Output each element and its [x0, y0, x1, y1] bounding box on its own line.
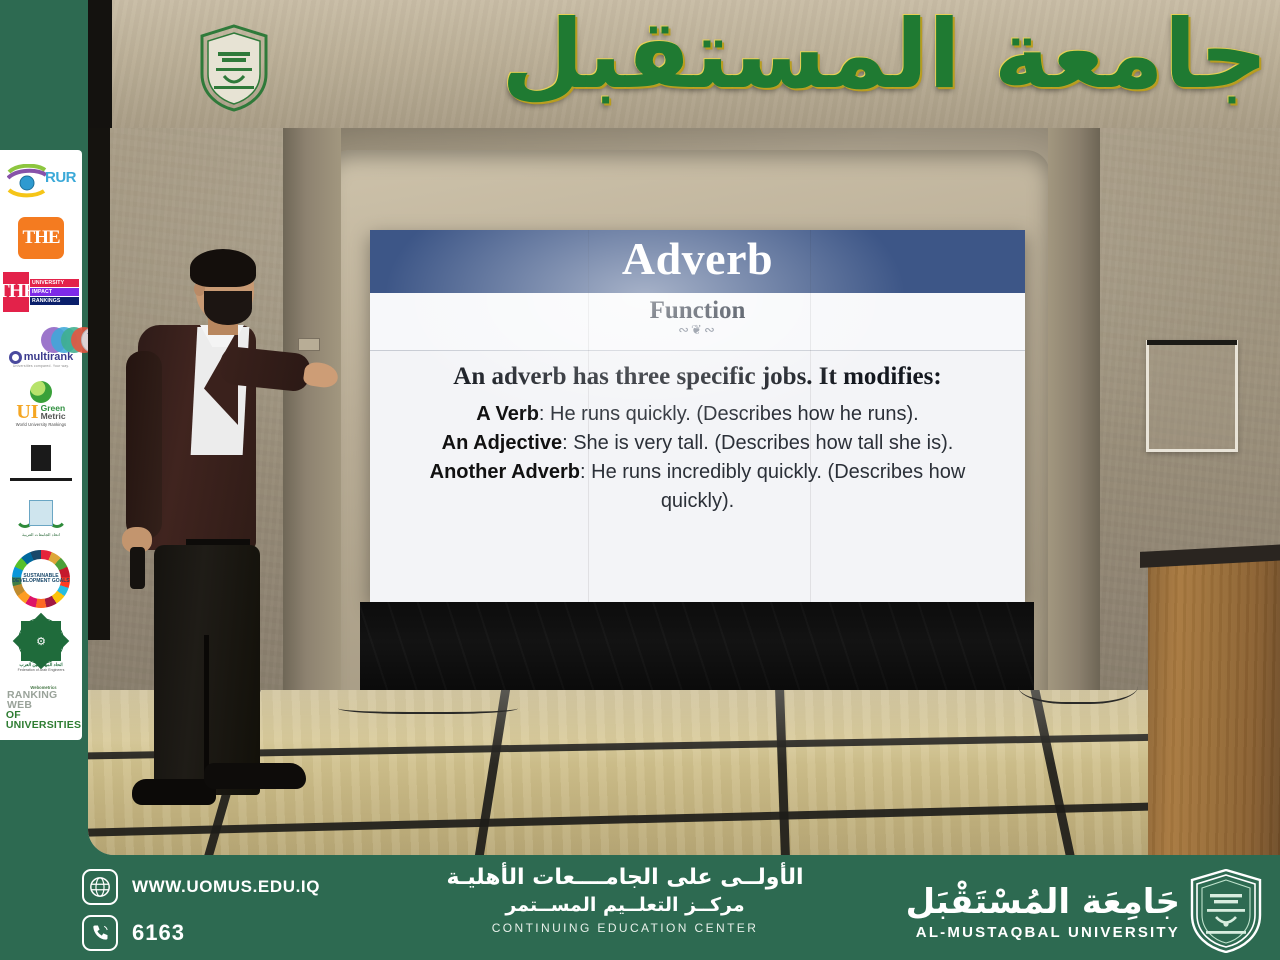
rur-swoosh-icon: [7, 164, 47, 198]
greenmetric-metric: Metric: [41, 412, 66, 421]
multirank-tagline: Universities compared. Your way.: [13, 364, 69, 368]
slide-title: Adverb: [370, 232, 1025, 285]
eight-point-star-icon: ⚙: [21, 621, 61, 661]
the-impact-mark: THE: [3, 272, 29, 312]
slide-bullet-2: An Adjective: She is very tall. (Describ…: [396, 429, 999, 458]
globe-www-icon: [82, 869, 118, 905]
slide-subtitle: Function: [370, 293, 1025, 325]
webometrics-line2: RANKING WEB: [7, 690, 80, 710]
website-url[interactable]: WWW.UOMUS.EDU.IQ: [132, 877, 320, 897]
presenter-gesturing-hand: [302, 361, 339, 389]
green-globe-icon: [30, 381, 52, 403]
rur-logo: RUR: [4, 158, 78, 204]
accreditation-rail: RUR THE THE UNIVERSITY IMPACT RANKINGS: [0, 0, 88, 855]
presenter-microphone: [130, 547, 145, 589]
the-rankings-logo: THE: [4, 217, 78, 259]
contact-block: WWW.UOMUS.EDU.IQ 6163: [82, 869, 412, 960]
phone-row[interactable]: 6163: [82, 915, 412, 951]
bullet-1-text: : He runs quickly. (Describes how he run…: [539, 403, 919, 425]
ui-greenmetric-logo: UI Green Metric World University Ranking…: [3, 381, 79, 427]
projector-screen: Adverb Function ∾❦∾ An adverb has three …: [370, 230, 1025, 602]
webometrics-logo: Webometrics RANKING WEB OF UNIVERSITIES: [2, 685, 80, 730]
bullet-2-text: : She is very tall. (Describes how tall …: [562, 432, 953, 454]
slide-body: An adverb has three specific jobs. It mo…: [370, 351, 1025, 602]
website-row[interactable]: WWW.UOMUS.EDU.IQ: [82, 869, 412, 905]
association-of-arab-universities-logo: اتحاد الجامعات العربية: [6, 494, 76, 537]
federation-of-arab-engineers-logo: ⚙ اتحاد المهندسين العرب Federation of Ar…: [6, 621, 76, 672]
center-tagline: الأولــى على الجامــــعات الأهليـة مركــ…: [390, 865, 860, 935]
sdg-core-text: SUSTAINABLE DEVELOPMENT GOALS: [12, 550, 70, 608]
tagline-english: CONTINUING EDUCATION CENTER: [390, 921, 860, 935]
slide-lead-text: An adverb has three specific jobs. It mo…: [396, 363, 999, 391]
bullet-3-label: Another Adverb: [430, 461, 580, 483]
floor-cable: [1018, 660, 1138, 704]
tagline-arabic-2: مركــز التعلــيم المســتمر: [390, 894, 860, 916]
multirank-wordmark: multirank: [24, 351, 74, 363]
wall-sign-shield-emblem-icon: [198, 24, 270, 112]
university-shield-emblem-icon: [1190, 869, 1262, 953]
wall-sign-arabic-text: جامعة المستقبل: [501, 0, 1268, 114]
sustainable-development-goals-logo: SUSTAINABLE DEVELOPMENT GOALS: [4, 550, 78, 608]
page-root: RUR THE THE UNIVERSITY IMPACT RANKINGS: [0, 0, 1280, 960]
impact-line-2: IMPACT: [30, 288, 79, 296]
bullet-3-text: : He runs incredibly quickly. (Describes…: [580, 461, 965, 512]
brand-arabic: جَامِعَة المُسْتَقْبَل: [906, 882, 1180, 922]
empty-wall-frame: [1146, 340, 1238, 452]
phone-ringing-icon: [82, 915, 118, 951]
slide-ornament-icon: ∾❦∾: [370, 325, 1025, 335]
greenmetric-caption: World University Rankings: [16, 422, 66, 427]
accreditation-logo-strip: RUR THE THE UNIVERSITY IMPACT RANKINGS: [0, 150, 82, 740]
sdg-color-wheel-icon: SUSTAINABLE DEVELOPMENT GOALS: [12, 550, 70, 608]
impact-line-3: RANKINGS: [30, 297, 79, 305]
screen-base-stage: [360, 602, 1034, 700]
slide-subtitle-row: Function ∾❦∾: [370, 293, 1025, 351]
ui-mark: UI: [16, 404, 38, 420]
archway-pillar-right: [1048, 128, 1100, 728]
classical-columns-logo: [10, 439, 72, 481]
impact-line-1: UNIVERSITY: [30, 279, 79, 287]
bullet-1-label: A Verb: [476, 403, 539, 425]
bullet-2-label: An Adjective: [442, 432, 562, 454]
university-brand-block: جَامِعَة المُسْتَقْبَل AL-MUSTAQBAL UNIV…: [906, 869, 1262, 953]
floor-cable-2: [338, 700, 518, 714]
slide-bullet-3: Another Adverb: He runs incredibly quick…: [396, 458, 999, 516]
rur-logo-text: RUR: [45, 169, 76, 186]
presenter: [108, 255, 338, 835]
arab-universities-caption: اتحاد الجامعات العربية: [22, 532, 60, 537]
the-logo-text: THE: [22, 227, 59, 249]
slide-bullet-1: A Verb: He runs quickly. (Describes how …: [396, 400, 999, 429]
tagline-arabic-1: الأولــى على الجامــــعات الأهليـة: [390, 865, 860, 890]
the-impact-rankings-logo: THE UNIVERSITY IMPACT RANKINGS: [4, 272, 78, 312]
wooden-podium: [1148, 560, 1280, 855]
bottom-banner: WWW.UOMUS.EDU.IQ 6163 الأولــى على الجام…: [0, 855, 1280, 960]
phone-number[interactable]: 6163: [132, 920, 185, 946]
event-photo: جامعة المستقبل Adverb Function ∾❦∾ An ad…: [88, 0, 1280, 855]
wall-sign-band: جامعة المستقبل: [88, 0, 1280, 128]
u-multirank-logo: U multirank Universities compared. Your …: [2, 325, 80, 368]
brand-english: AL-MUSTAQBAL UNIVERSITY: [906, 924, 1180, 941]
webometrics-line3: OF UNIVERSITIES: [6, 710, 81, 730]
slide-header: Adverb: [370, 230, 1025, 293]
